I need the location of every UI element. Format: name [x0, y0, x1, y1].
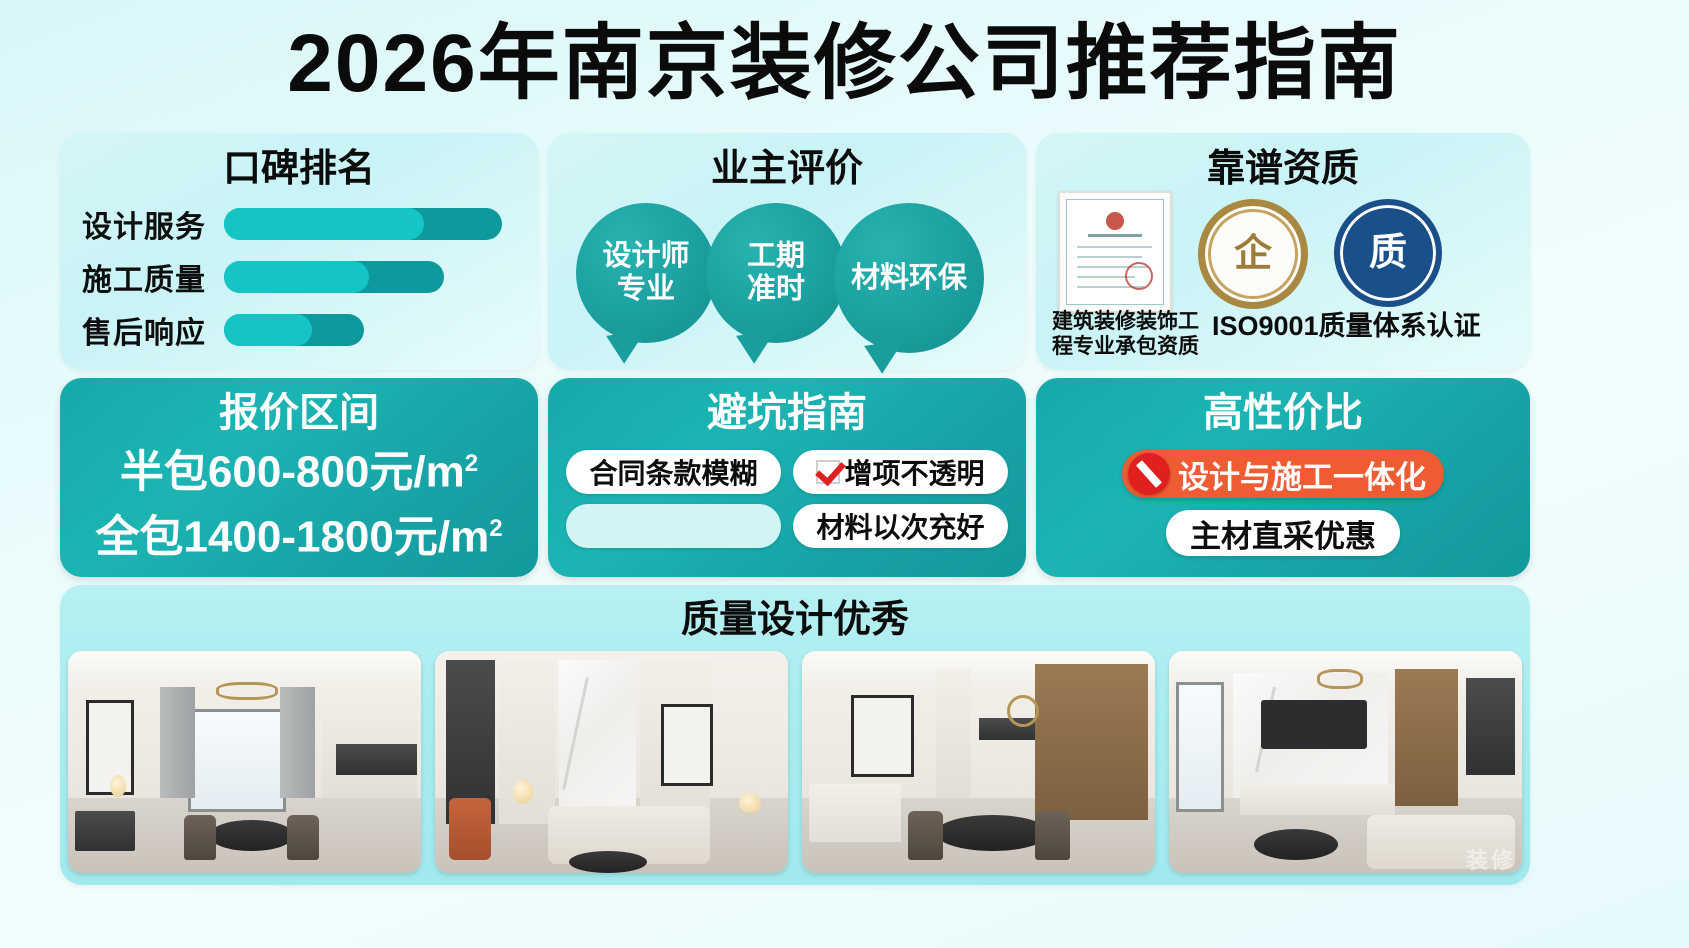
value-row-primary: 设计与施工一体化	[1036, 450, 1530, 498]
gallery-title: 质量设计优秀	[60, 597, 1530, 643]
value-highlight-pill[interactable]: 设计与施工一体化	[1122, 450, 1444, 498]
gold-seal-badge-icon: 企	[1198, 199, 1308, 309]
price-line-full-package: 全包1400-1800元/m2	[60, 501, 538, 566]
gallery-photo-dining-room[interactable]	[68, 651, 421, 873]
ranking-bar-front	[224, 208, 424, 240]
gold-badge-mark: 企	[1234, 235, 1272, 273]
ranking-bar-row: 售后响应	[82, 311, 528, 349]
card-pitfall-guide: 避坑指南 合同条款模糊 增项不透明 材料以次充好	[548, 378, 1026, 577]
prohibition-icon	[1128, 453, 1170, 495]
ranking-bar-front	[224, 314, 312, 346]
value-pill-list: 设计与施工一体化 主材直采优惠	[1036, 450, 1530, 568]
review-bubble-label: 工期准时	[743, 240, 809, 306]
ranking-bar-track	[224, 208, 502, 240]
pitfalls-title: 避坑指南	[548, 390, 1026, 436]
price-title: 报价区间	[60, 390, 538, 436]
credential-caption-row: 建筑装修装饰工程专业承包资质 ISO9001质量体系认证	[1050, 309, 1520, 359]
blue-seal-badge-icon: 质	[1334, 199, 1442, 307]
certificate-document-image	[1058, 191, 1172, 313]
certificate-caption: 建筑装修装饰工程专业承包资质	[1052, 309, 1212, 359]
iso-caption: ISO9001质量体系认证	[1212, 309, 1520, 359]
review-bubble: 材料环保	[834, 203, 984, 353]
credentials-title: 靠谱资质	[1036, 147, 1530, 191]
value-highlight-label: 设计与施工一体化	[1178, 452, 1426, 497]
ranking-bar-label: 设计服务	[82, 202, 224, 246]
ranking-bar-track	[224, 261, 502, 293]
credential-image-row: 企 质	[1050, 191, 1516, 311]
review-bubble: 工期准时	[706, 203, 846, 343]
pitfall-pill[interactable]: 材料以次充好	[793, 504, 1008, 548]
ranking-bar-label: 施工质量	[82, 255, 224, 299]
ranking-bar-list: 设计服务 施工质量 售后响应	[82, 205, 528, 364]
review-bubble: 设计师专业	[576, 203, 716, 343]
blue-badge-mark: 质	[1369, 234, 1407, 272]
value-title: 高性价比	[1036, 390, 1530, 436]
gallery-photo-open-kitchen-dining[interactable]	[802, 651, 1155, 873]
card-owner-reviews: 业主评价 设计师专业 工期准时 材料环保	[548, 133, 1026, 370]
value-secondary-pill[interactable]: 主材直采优惠	[1166, 510, 1400, 556]
review-bubble-label: 材料环保	[847, 262, 971, 295]
card-word-of-mouth-ranking: 口碑排名 设计服务 施工质量 售后响应	[60, 133, 538, 370]
ranking-bar-track	[224, 314, 502, 346]
card-credentials: 靠谱资质 企 质 建筑装修装饰工程专业承包资质 ISO9001质量体系认证	[1036, 133, 1530, 370]
reviews-title: 业主评价	[548, 147, 1026, 191]
watermark: 装修	[1466, 843, 1516, 875]
ranking-title: 口碑排名	[60, 147, 538, 191]
price-line-half-package: 半包600-800元/m2	[60, 436, 538, 501]
gallery-photo-tv-wall-living-room[interactable]	[1169, 651, 1522, 873]
value-row-secondary: 主材直采优惠	[1036, 510, 1530, 556]
pitfall-pill-grid: 合同条款模糊 增项不透明 材料以次充好	[566, 450, 1008, 548]
ranking-bar-label: 售后响应	[82, 308, 224, 352]
pitfall-pill-checked[interactable]: 增项不透明	[793, 450, 1008, 494]
value-secondary-label: 主材直采优惠	[1190, 511, 1376, 556]
pitfall-pill-empty[interactable]	[566, 504, 781, 548]
gallery-section: 质量设计优秀	[60, 585, 1530, 885]
pitfall-pill[interactable]: 合同条款模糊	[566, 450, 781, 494]
pitfall-pill-label: 增项不透明	[844, 452, 984, 492]
pitfall-pill-label: 材料以次充好	[816, 506, 984, 546]
ranking-bar-row: 设计服务	[82, 205, 528, 243]
card-price-range: 报价区间 半包600-800元/m2 全包1400-1800元/m2	[60, 378, 538, 577]
ranking-bar-row: 施工质量	[82, 258, 528, 296]
gallery-image-row	[68, 651, 1522, 873]
checkmark-icon	[816, 460, 840, 484]
infographic-poster: 2026年南京装修公司推荐指南 口碑排名 设计服务 施工质量 售后响应	[0, 0, 1689, 948]
review-bubble-label: 设计师专业	[598, 240, 693, 306]
ranking-bar-front	[224, 261, 369, 293]
gallery-photo-living-room-marble[interactable]	[435, 651, 788, 873]
card-high-value: 高性价比 设计与施工一体化 主材直采优惠	[1036, 378, 1530, 577]
pitfall-pill-label: 合同条款模糊	[589, 452, 757, 492]
review-bubble-group: 设计师专业 工期准时 材料环保	[566, 195, 1018, 365]
page-title: 2026年南京装修公司推荐指南	[0, 16, 1689, 112]
